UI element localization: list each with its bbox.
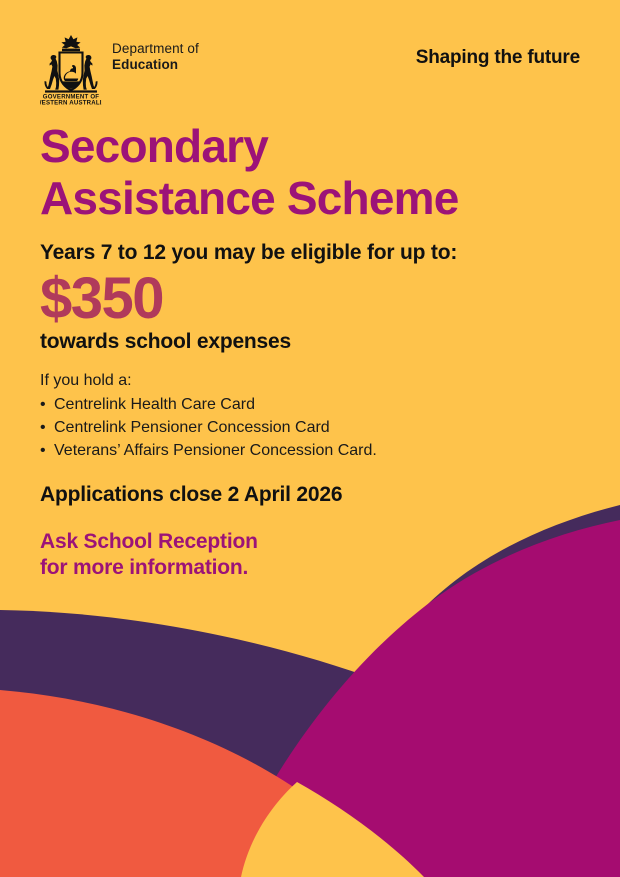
bullet-icon: •: [40, 439, 46, 462]
poster-content: Secondary Assistance Scheme Years 7 to 1…: [40, 120, 580, 582]
list-item-label: Centrelink Health Care Card: [54, 396, 255, 413]
page-title: Secondary Assistance Scheme: [40, 120, 580, 225]
eligible-cards-list: • Centrelink Health Care Card • Centreli…: [40, 393, 580, 463]
amount-value: $350: [40, 269, 580, 328]
wa-government-logo: GOVERNMENT OF WESTERN AUSTRALIA Departme…: [40, 33, 199, 105]
poster-header: GOVERNMENT OF WESTERN AUSTRALIA Departme…: [40, 33, 580, 111]
decor-purple-band: [0, 610, 620, 877]
closing-date: Applications close 2 April 2026: [40, 483, 580, 507]
decor-red-arc: [0, 690, 392, 877]
list-item: • Centrelink Health Care Card: [40, 393, 580, 416]
department-name: Department of Education: [112, 33, 199, 73]
bullet-icon: •: [40, 393, 46, 416]
department-line1: Department of: [112, 41, 199, 57]
call-to-action-line1: Ask School Reception: [40, 529, 580, 556]
call-to-action-line2: for more information.: [40, 555, 580, 582]
page-title-line2: Assistance Scheme: [40, 172, 580, 224]
crest-caption-line2: WESTERN AUSTRALIA: [40, 99, 102, 105]
eligibility-intro: Years 7 to 12 you may be eligible for up…: [40, 241, 580, 265]
call-to-action: Ask School Reception for more informatio…: [40, 529, 580, 583]
list-item: • Centrelink Pensioner Concession Card: [40, 416, 580, 439]
wa-government-crest-icon: GOVERNMENT OF WESTERN AUSTRALIA: [40, 33, 102, 105]
poster-canvas: GOVERNMENT OF WESTERN AUSTRALIA Departme…: [0, 0, 620, 877]
decor-yellow-wedge: [241, 782, 424, 877]
page-title-line1: Secondary: [40, 120, 580, 172]
list-item-label: Veterans’ Affairs Pensioner Concession C…: [54, 442, 377, 459]
list-item-label: Centrelink Pensioner Concession Card: [54, 419, 330, 436]
tagline: Shaping the future: [416, 33, 580, 69]
amount-caption: towards school expenses: [40, 330, 580, 354]
department-line2: Education: [112, 57, 199, 73]
bullet-icon: •: [40, 416, 46, 439]
eligible-cards-intro: If you hold a:: [40, 372, 580, 390]
list-item: • Veterans’ Affairs Pensioner Concession…: [40, 439, 580, 462]
